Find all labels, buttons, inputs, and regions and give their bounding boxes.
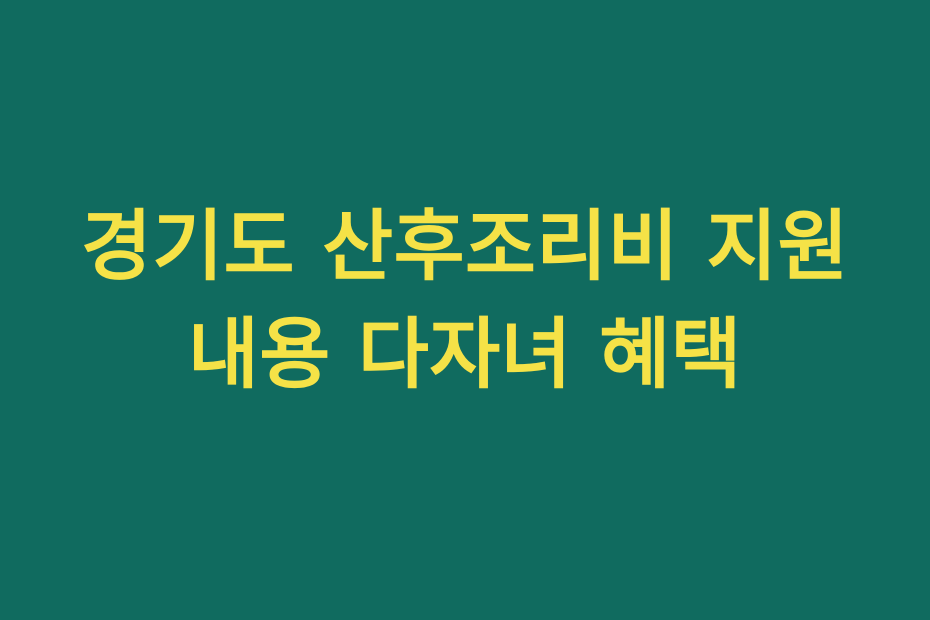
title-block: 경기도 산후조리비 지원 내용 다자녀 혜택 bbox=[0, 194, 930, 410]
title-line-1: 경기도 산후조리비 지원 bbox=[0, 194, 930, 302]
title-line-2: 내용 다자녀 혜택 bbox=[0, 302, 930, 410]
thumbnail-card: 경기도 산후조리비 지원 내용 다자녀 혜택 bbox=[0, 0, 930, 620]
